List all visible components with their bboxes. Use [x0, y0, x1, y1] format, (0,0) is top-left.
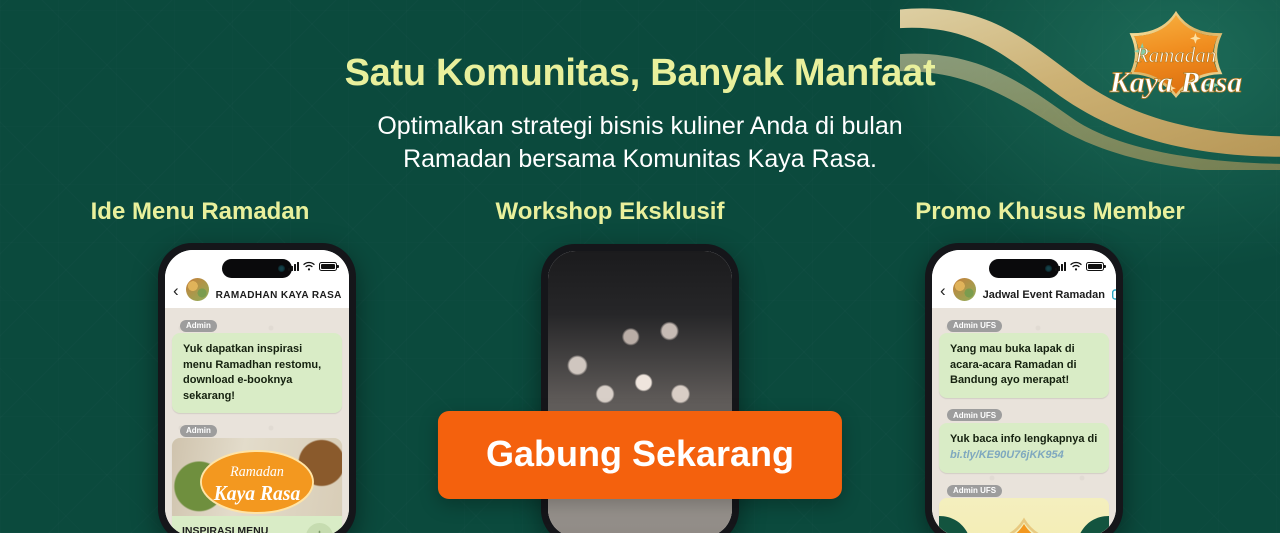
column-title-ide-menu: Ide Menu Ramadan [0, 198, 400, 226]
battery-icon [319, 262, 337, 271]
sender-badge: Admin UFS [947, 320, 1002, 332]
column-title-workshop: Workshop Eksklusif [400, 198, 820, 226]
avatar [953, 278, 976, 301]
message-2-ebook: Admin Ramadan Kaya Rasa INSPIRASI MENU # [172, 420, 342, 533]
ebook-logo-overlay: Ramadan Kaya Rasa [172, 438, 342, 516]
page-title: Satu Komunitas, Banyak Manfaat [0, 52, 1280, 95]
message-text: Yuk baca info lengkapnya di [950, 433, 1097, 445]
column-title-promo: Promo Khusus Member [820, 198, 1280, 226]
chat-body-left: Admin Yuk dapatkan inspirasi menu Ramadh… [165, 308, 349, 533]
signal-icon [1055, 262, 1066, 271]
chat-title-right: Jadwal Event Ramadan [983, 289, 1105, 301]
dynamic-island [989, 259, 1059, 278]
svg-text:Kaya Rasa: Kaya Rasa [213, 483, 301, 506]
status-bar-left [288, 261, 337, 271]
message-bubble[interactable]: Yang mau buka lapak di acara-acara Ramad… [939, 333, 1109, 398]
phone-mockup-right: ‹ Jadwal Event Ramadan Admin UFS Yang [925, 243, 1123, 533]
wifi-icon [1070, 261, 1082, 271]
dynamic-island [222, 259, 292, 278]
message-1: Admin UFS Yang mau buka lapak di acara-a… [939, 315, 1109, 398]
message-bubble[interactable]: Yuk baca info lengkapnya di bi.tly/KE90U… [939, 423, 1109, 473]
subtitle-line-1: Optimalkan strategi bisnis kuliner Anda … [0, 110, 1280, 143]
page-subtitle: Optimalkan strategi bisnis kuliner Anda … [0, 110, 1280, 175]
column-titles: Ide Menu Ramadan Workshop Eksklusif Prom… [0, 198, 1280, 226]
svg-text:Ramadan: Ramadan [229, 464, 284, 481]
ebook-card[interactable]: Ramadan Kaya Rasa INSPIRASI MENU #RAMADA… [172, 438, 342, 533]
promo-card[interactable]: Ramadan Kaya Rasa [939, 498, 1109, 533]
promo-banner: Ramadan Kaya Rasa Satu Komunitas, Banyak… [0, 0, 1280, 533]
signal-icon [288, 262, 299, 271]
status-bar-right [1055, 261, 1104, 271]
ebook-cover-image: Ramadan Kaya Rasa [172, 438, 342, 516]
back-chevron-icon[interactable]: ‹ [940, 282, 946, 299]
promo-card-artwork: Ramadan Kaya Rasa [939, 498, 1109, 533]
sender-badge: Admin [180, 425, 217, 437]
message-2: Admin UFS Yuk baca info lengkapnya di bi… [939, 405, 1109, 473]
chat-title-left: RAMADHAN KAYA RASA [216, 290, 342, 301]
battery-icon [1086, 262, 1104, 271]
sender-badge: Admin UFS [947, 409, 1002, 421]
message-1: Admin Yuk dapatkan inspirasi menu Ramadh… [172, 315, 342, 413]
wifi-icon [303, 261, 315, 271]
message-bubble[interactable]: Yuk dapatkan inspirasi menu Ramadhan res… [172, 333, 342, 413]
phone-mockup-left: ‹ RAMADHAN KAYA RASA Admin Yuk dapatka [158, 243, 356, 533]
message-3-promo: Admin UFS Ramadan Kaya Rasa [939, 480, 1109, 533]
video-call-icon[interactable] [1112, 289, 1116, 300]
sender-badge: Admin UFS [947, 485, 1002, 497]
sender-badge: Admin [180, 320, 217, 332]
avatar [186, 278, 209, 301]
subtitle-line-2: Ramadan bersama Komunitas Kaya Rasa. [0, 143, 1280, 176]
back-chevron-icon[interactable]: ‹ [173, 282, 179, 299]
chat-body-right: Admin UFS Yang mau buka lapak di acara-a… [932, 308, 1116, 533]
join-now-button[interactable]: Gabung Sekarang [438, 411, 842, 499]
message-link[interactable]: bi.tly/KE90U76jKK954 [950, 448, 1098, 464]
